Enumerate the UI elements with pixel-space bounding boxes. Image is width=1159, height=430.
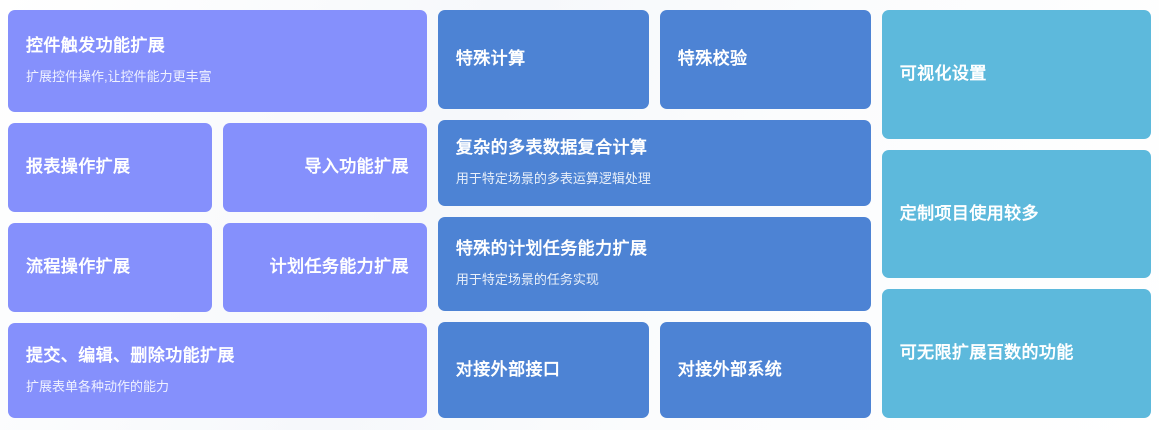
card-title: 特殊的计划任务能力扩展 (456, 238, 647, 261)
card-process-operation-extension[interactable]: 流程操作扩展 (8, 223, 212, 312)
card-external-interface-integration[interactable]: 对接外部接口 (438, 322, 649, 418)
card-special-calculation[interactable]: 特殊计算 (438, 10, 649, 109)
card-subtitle: 用于特定场景的任务实现 (456, 271, 599, 290)
left-row-reports: 报表操作扩展 导入功能扩展 (8, 123, 427, 212)
card-subtitle: 用于特定场景的多表运算逻辑处理 (456, 170, 651, 189)
card-submit-edit-delete-extension[interactable]: 提交、编辑、删除功能扩展 扩展表单各种动作的能力 (8, 323, 427, 418)
card-title: 可无限扩展百数的功能 (900, 342, 1074, 365)
card-title: 控件触发功能扩展 (26, 35, 165, 58)
capability-board: 控件触发功能扩展 扩展控件操作,让控件能力更丰富 报表操作扩展 导入功能扩展 流… (0, 0, 1159, 430)
card-title: 特殊校验 (678, 48, 748, 71)
card-special-validation[interactable]: 特殊校验 (660, 10, 871, 109)
card-title: 提交、编辑、删除功能扩展 (26, 345, 235, 368)
left-row-process: 流程操作扩展 计划任务能力扩展 (8, 223, 427, 312)
card-visual-configuration[interactable]: 可视化设置 (882, 10, 1151, 139)
card-title: 定制项目使用较多 (900, 203, 1039, 226)
card-title: 流程操作扩展 (26, 256, 130, 279)
card-report-operation-extension[interactable]: 报表操作扩展 (8, 123, 212, 212)
column-computation-integration: 特殊计算 特殊校验 复杂的多表数据复合计算 用于特定场景的多表运算逻辑处理 特殊… (438, 10, 871, 418)
card-title: 对接外部接口 (456, 359, 560, 382)
card-external-system-integration[interactable]: 对接外部系统 (660, 322, 871, 418)
card-title: 复杂的多表数据复合计算 (456, 137, 647, 160)
middle-row-external: 对接外部接口 对接外部系统 (438, 322, 871, 418)
card-title: 对接外部系统 (678, 359, 782, 382)
card-scheduled-task-capability-extension[interactable]: 计划任务能力扩展 (223, 223, 427, 312)
card-subtitle: 扩展表单各种动作的能力 (26, 378, 169, 397)
card-multi-table-composite-calculation[interactable]: 复杂的多表数据复合计算 用于特定场景的多表运算逻辑处理 (438, 120, 871, 206)
card-title: 导入功能扩展 (304, 156, 408, 179)
card-title: 报表操作扩展 (26, 156, 130, 179)
card-unlimited-feature-extension[interactable]: 可无限扩展百数的功能 (882, 289, 1151, 418)
card-title: 特殊计算 (456, 48, 526, 71)
card-title: 计划任务能力扩展 (270, 256, 409, 279)
middle-row-special: 特殊计算 特殊校验 (438, 10, 871, 109)
column-extension-traits: 可视化设置 定制项目使用较多 可无限扩展百数的功能 (882, 10, 1151, 418)
card-control-trigger-extension[interactable]: 控件触发功能扩展 扩展控件操作,让控件能力更丰富 (8, 10, 427, 112)
card-import-function-extension[interactable]: 导入功能扩展 (223, 123, 427, 212)
column-control-extensions: 控件触发功能扩展 扩展控件操作,让控件能力更丰富 报表操作扩展 导入功能扩展 流… (8, 10, 427, 418)
card-title: 可视化设置 (900, 63, 987, 86)
card-special-scheduled-task-extension[interactable]: 特殊的计划任务能力扩展 用于特定场景的任务实现 (438, 217, 871, 311)
card-subtitle: 扩展控件操作,让控件能力更丰富 (26, 68, 212, 87)
card-custom-project-usage[interactable]: 定制项目使用较多 (882, 150, 1151, 277)
